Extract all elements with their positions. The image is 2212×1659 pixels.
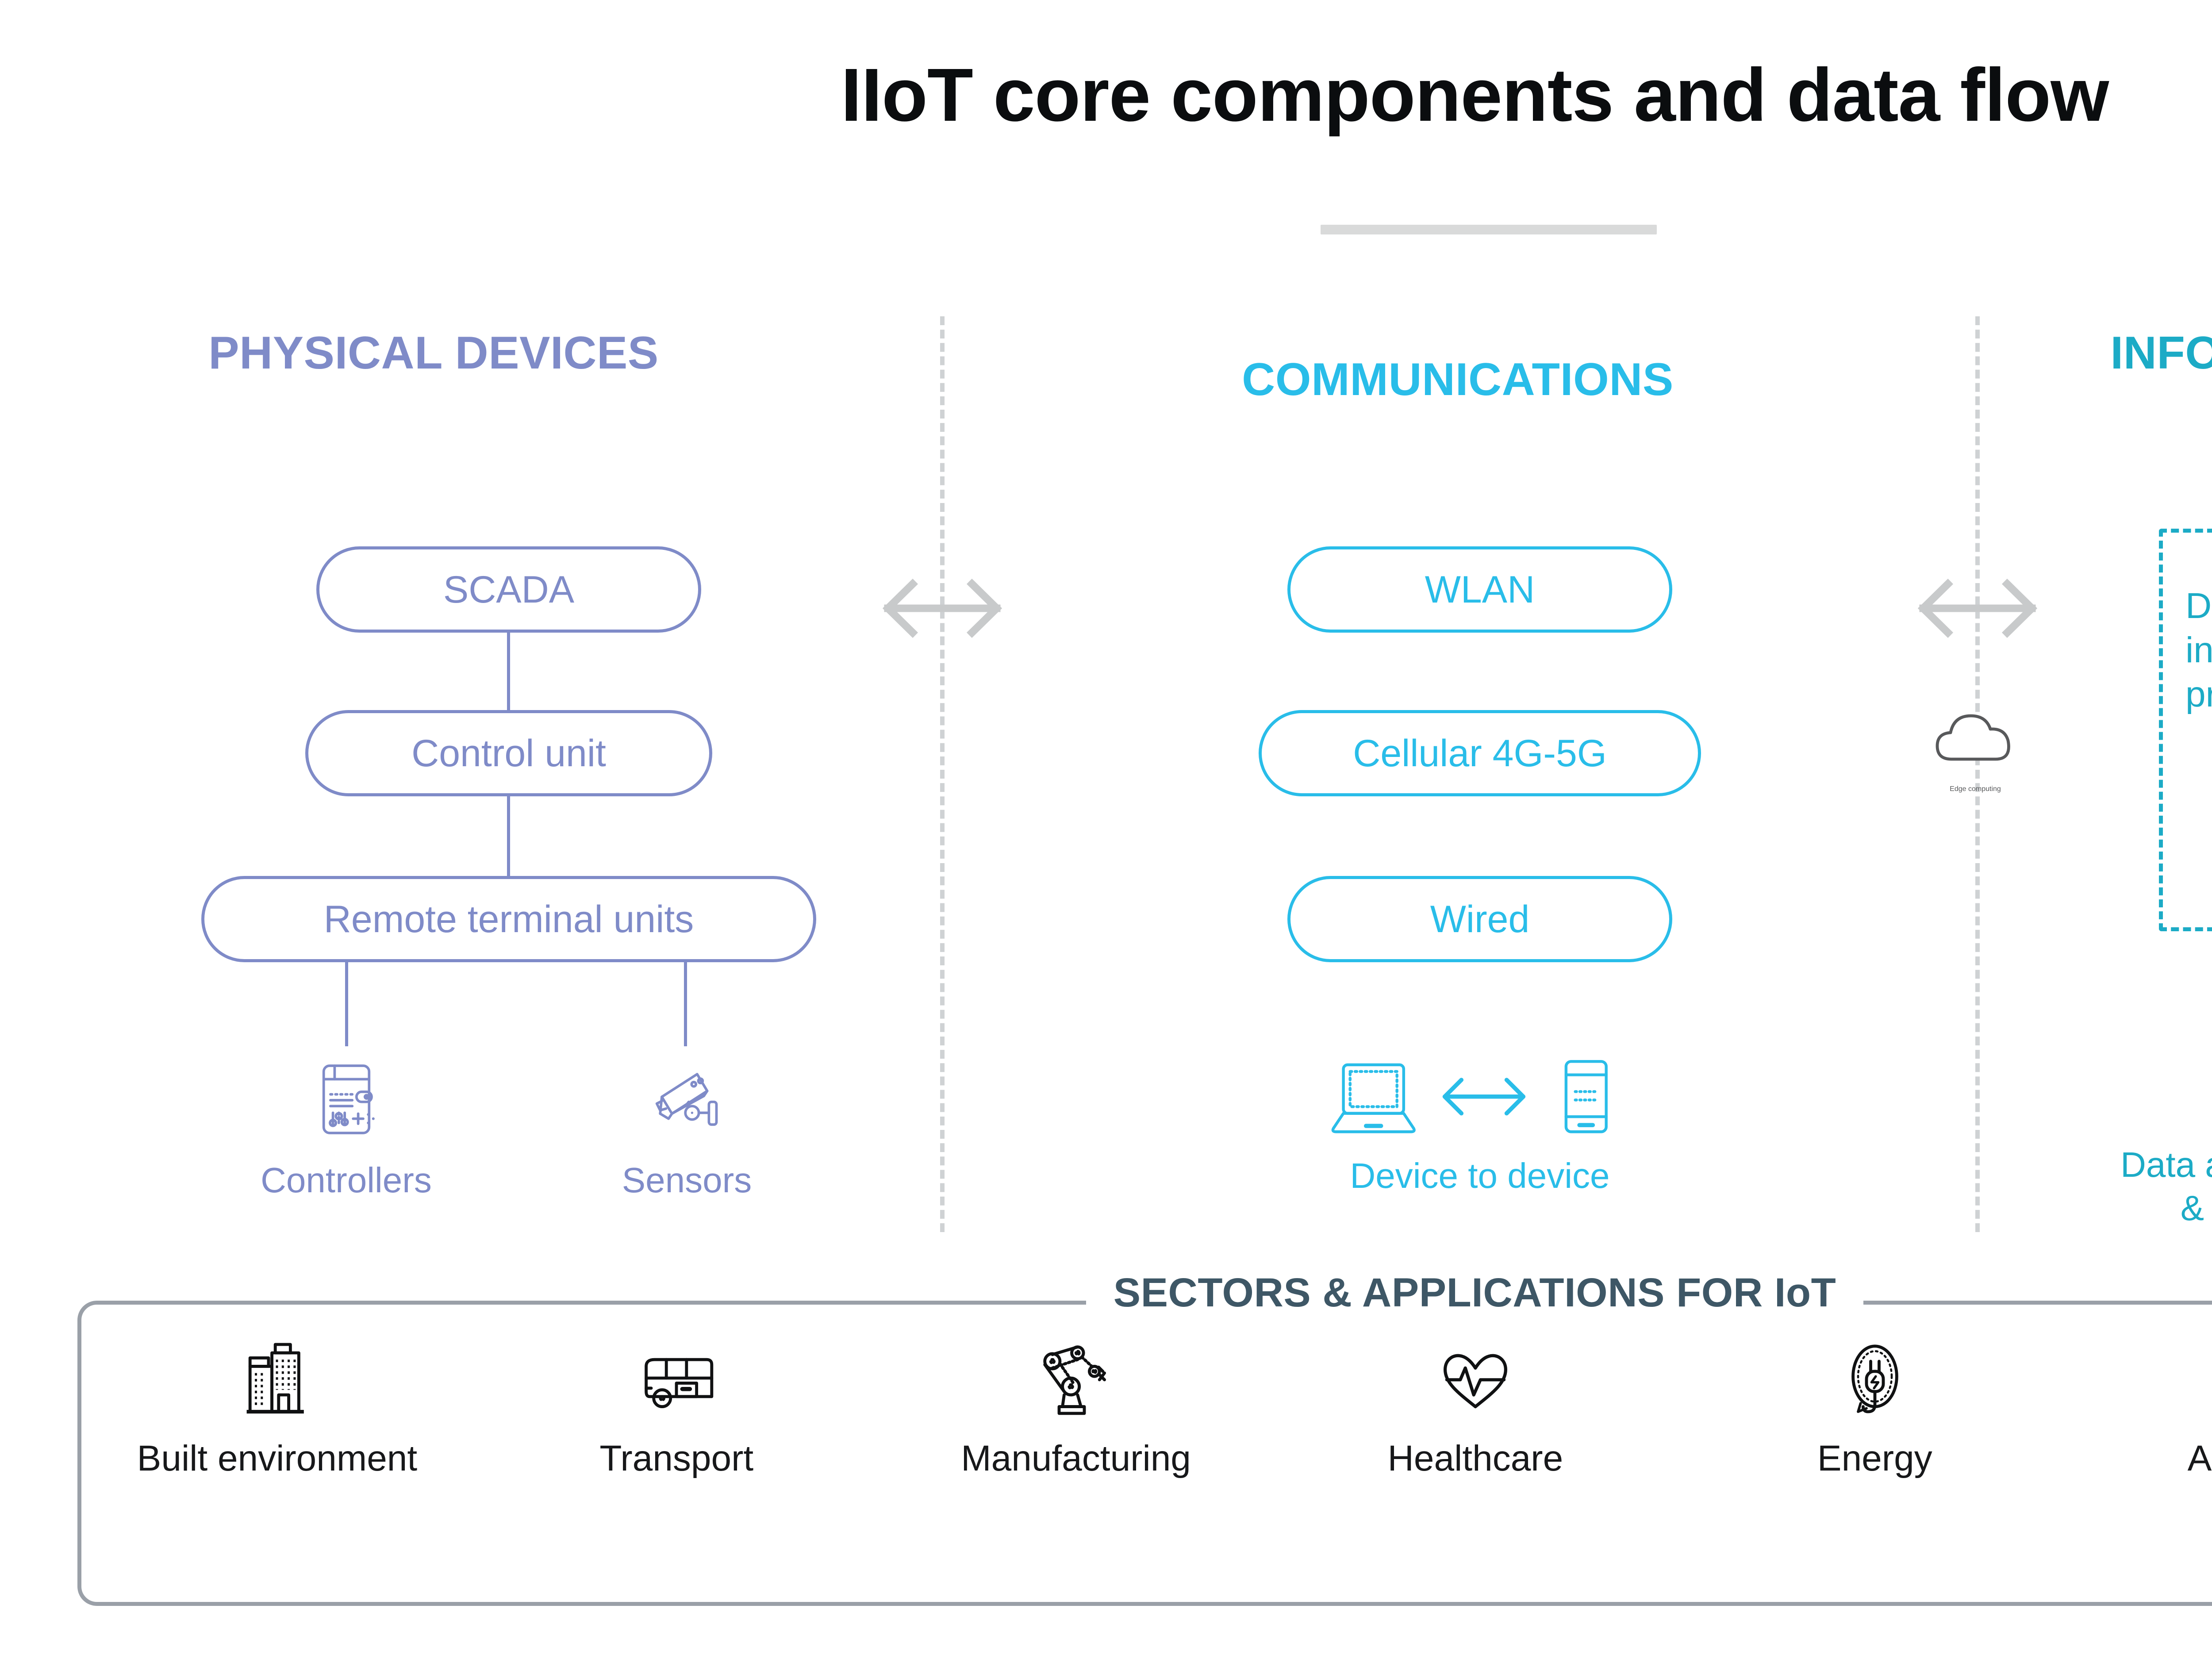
- pill-remote-terminal-units[interactable]: Remote terminal units: [201, 876, 816, 962]
- cloud-icon: [1827, 703, 2124, 772]
- robot-arm-icon: [886, 1336, 1266, 1420]
- leaf-controllers: Controllers: [184, 1057, 509, 1202]
- buildings-icon: [87, 1336, 467, 1420]
- pill-scada[interactable]: SCADA: [316, 546, 701, 633]
- power-plug-icon: [1685, 1336, 2065, 1420]
- edge-computing-label: Edge computing: [1827, 785, 2124, 793]
- pill-label: Control unit: [411, 734, 606, 772]
- edge-computing-block: Edge computing: [1827, 703, 2124, 793]
- connector-control-rtu: [507, 796, 510, 883]
- column-header-communications: COMMUNICATIONS: [1137, 352, 1778, 408]
- double-arrow-icon: [878, 571, 1006, 646]
- title-underline-rule: [1321, 225, 1657, 234]
- column-header-physical-devices: PHYSICAL DEVICES: [146, 325, 721, 381]
- sectors-title: SECTORS & APPLICATIONS FOR IoT: [1086, 1271, 1864, 1315]
- connector-rtu-sensors: [684, 962, 687, 1046]
- sector-label: Transport: [486, 1439, 867, 1479]
- database-icon: [2057, 1040, 2212, 1128]
- pill-label: Cellular 4G-5G: [1353, 734, 1607, 772]
- page-title: IIoT core components and data flow: [0, 58, 2212, 133]
- sector-agriculture[interactable]: Agriculture: [2084, 1336, 2212, 1479]
- leaf-label: Data aggregation & storage: [2057, 1143, 2212, 1229]
- leaf-label: Sensors: [524, 1159, 849, 1202]
- sector-energy[interactable]: Energy: [1685, 1336, 2065, 1479]
- sector-label: Agriculture: [2084, 1439, 2212, 1479]
- laptop-phone-exchange-icon: [1221, 1053, 1739, 1139]
- sector-label: Energy: [1685, 1439, 2065, 1479]
- security-camera-icon: [524, 1057, 849, 1144]
- heart-pulse-icon: [1285, 1336, 1666, 1420]
- sector-built-environment[interactable]: Built environment: [87, 1336, 467, 1479]
- connector-scada-control: [507, 633, 510, 717]
- sectors-title-wrap: SECTORS & APPLICATIONS FOR IoT: [0, 1271, 2212, 1315]
- column-header-information-processing: INFORMATION PROCESSING: [2097, 325, 2212, 381]
- sector-healthcare[interactable]: Healthcare: [1285, 1336, 1666, 1479]
- leaf-device-to-device: Device to device: [1221, 1053, 1739, 1198]
- pill-control-unit[interactable]: Control unit: [305, 710, 712, 796]
- leaf-sensors: Sensors: [524, 1057, 849, 1202]
- control-panel-icon: [184, 1057, 509, 1144]
- diagram-canvas: IIoT core components and data flow PHYSI…: [0, 0, 2212, 1659]
- sector-label: Manufacturing: [886, 1439, 1266, 1479]
- sector-label: Built environment: [87, 1439, 467, 1479]
- bus-icon: [486, 1336, 867, 1420]
- pill-label: Wired: [1430, 900, 1530, 938]
- pill-label: Remote terminal units: [324, 900, 694, 938]
- sector-transport[interactable]: Transport: [486, 1336, 867, 1479]
- double-arrow-icon: [1913, 571, 2042, 646]
- pill-wired[interactable]: Wired: [1287, 876, 1672, 962]
- pill-wlan[interactable]: WLAN: [1287, 546, 1672, 633]
- leaf-data-aggregation-storage: Data aggregation & storage: [2057, 1040, 2212, 1229]
- divider-physical-communications: [940, 316, 945, 1232]
- pill-cellular[interactable]: Cellular 4G-5G: [1259, 710, 1701, 796]
- sectors-row: Built environment: [77, 1336, 2212, 1584]
- connector-rtu-controllers: [345, 962, 348, 1046]
- leaf-label: Controllers: [184, 1159, 509, 1202]
- pill-label: SCADA: [443, 571, 574, 609]
- pill-label: WLAN: [1425, 571, 1535, 609]
- tree-icon: [2084, 1336, 2212, 1420]
- sector-manufacturing[interactable]: Manufacturing: [886, 1336, 1266, 1479]
- sector-label: Healthcare: [1285, 1439, 1666, 1479]
- info-item-data-analytics: Data analytics information, processing: [2185, 584, 2212, 717]
- leaf-label: Device to device: [1221, 1154, 1739, 1198]
